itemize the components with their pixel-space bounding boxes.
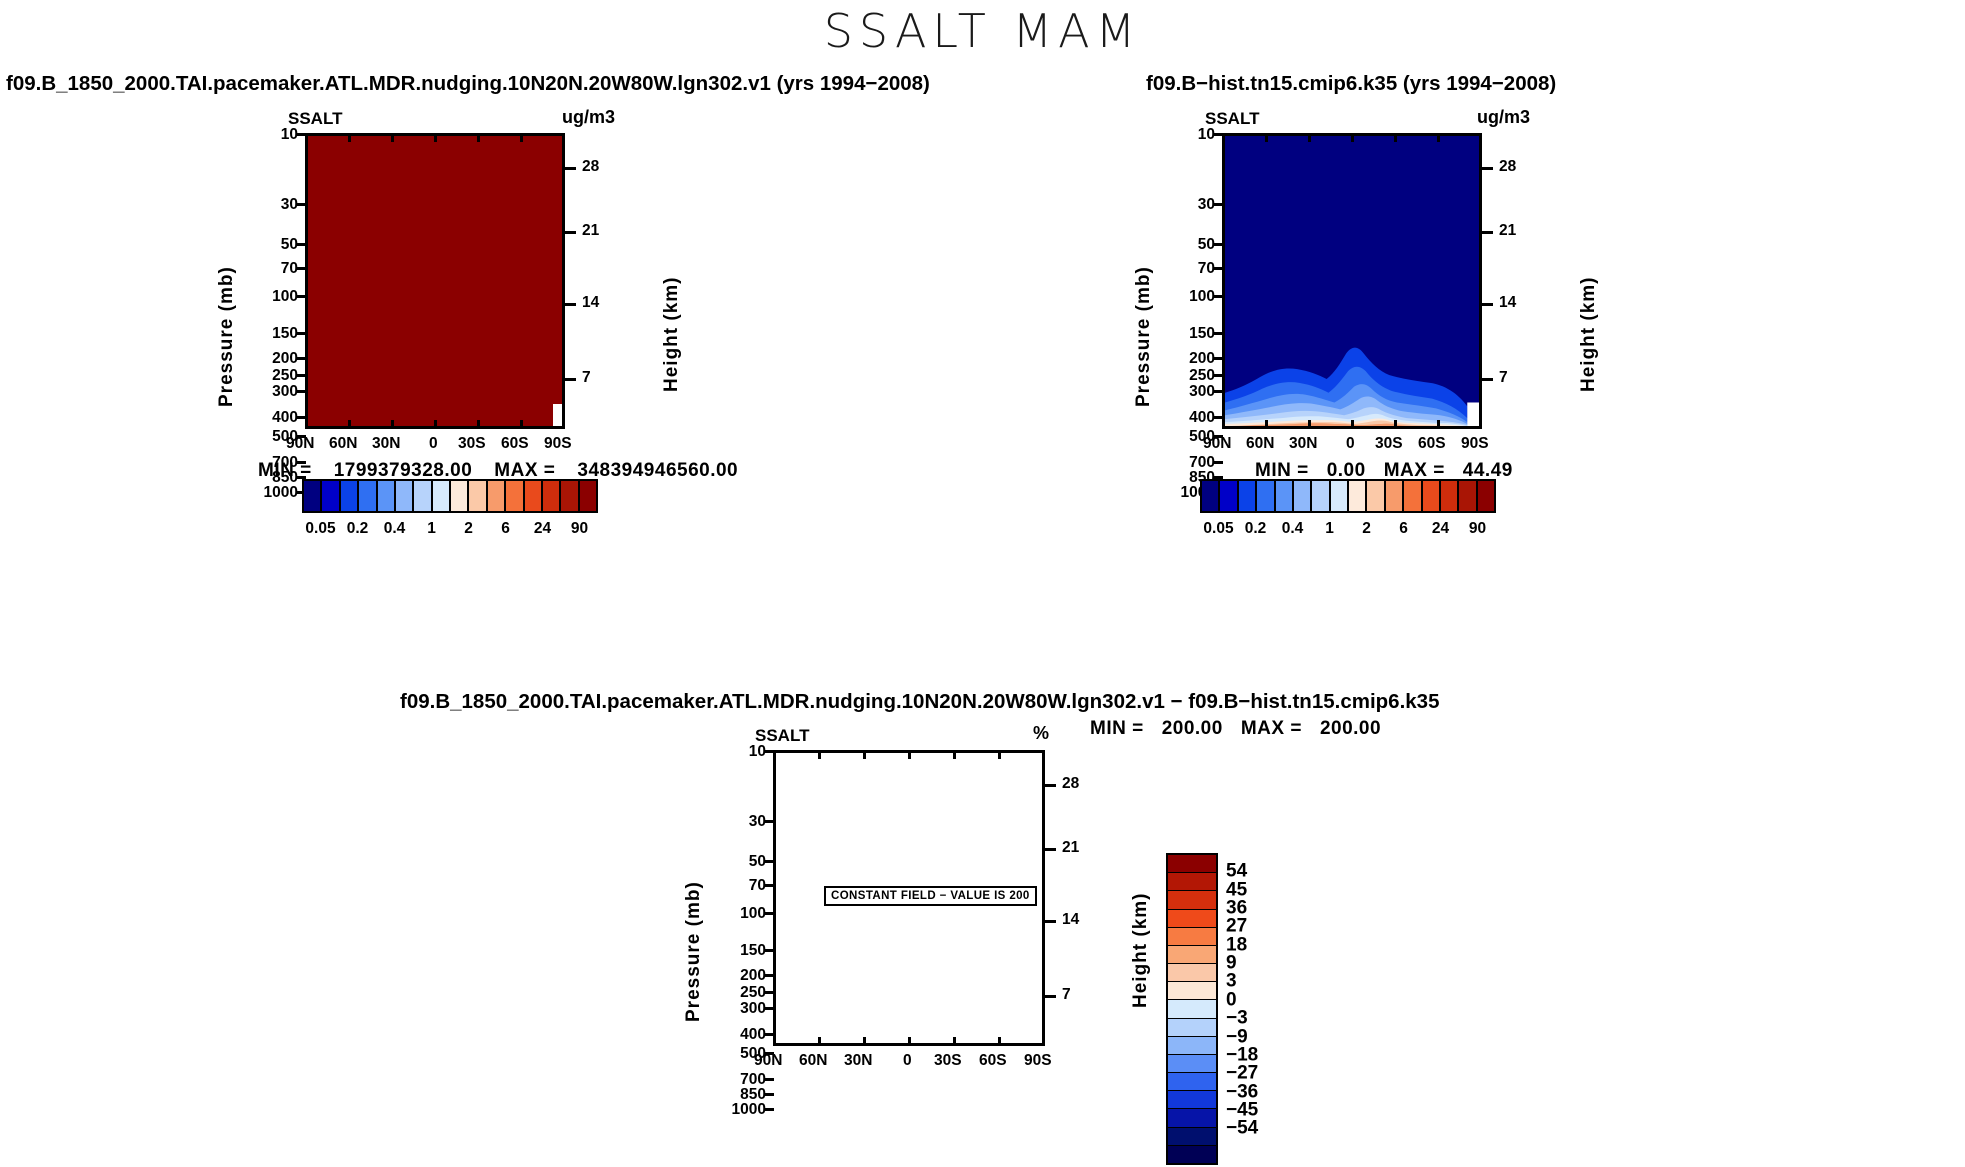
panel-left-ytick-labels: 10 30 50 70 100 150 200 250 300 400 500 … — [240, 122, 302, 442]
colorbar-tick-label: −18 — [1226, 1045, 1258, 1064]
panel-right-units: ug/m3 — [1477, 107, 1530, 128]
colorbar-cell — [1168, 928, 1216, 946]
colorbar-cell — [506, 481, 524, 511]
colorbar-tick-label: 0.4 — [384, 520, 406, 538]
panel-diff-ytick-labels: 10 30 50 70 100 150 200 250 300 400 500 … — [708, 739, 770, 1059]
y2tick-label: 7 — [1062, 986, 1071, 1004]
colorbar-tick-label: 24 — [1432, 520, 1449, 538]
panel-right-title: f09.B−hist.tn15.cmip6.k35 (yrs 1994−2008… — [1146, 72, 1556, 96]
panel-diff-min-value: 200.00 — [1162, 718, 1223, 740]
colorbar-tick-label: 0.05 — [305, 520, 335, 538]
colorbar-tick-label: 9 — [1226, 954, 1237, 973]
panel-left-colorbar-labels: 0.050.20.41262490 — [302, 520, 598, 542]
panel-left-max-value: 348394946560.00 — [577, 460, 738, 482]
panel-left-plot-area[interactable] — [305, 133, 565, 429]
ytick-label: 1000 — [732, 1101, 766, 1119]
colorbar-tick-label: 54 — [1226, 862, 1247, 881]
panel-diff-ytick-marks — [764, 750, 774, 1046]
colorbar-cell — [1294, 481, 1312, 511]
colorbar-tick-label: 0.4 — [1282, 520, 1304, 538]
panel-right-top-ticks — [1222, 133, 1482, 142]
panel-right-ytick-labels: 10 30 50 70 100 150 200 250 300 400 500 … — [1157, 122, 1219, 442]
colorbar-tick-label: −27 — [1226, 1064, 1258, 1083]
colorbar-tick-label: 18 — [1226, 935, 1247, 954]
panel-diff-xtick-marks — [773, 1037, 1045, 1046]
colorbar-cell — [1168, 1019, 1216, 1037]
colorbar-cell — [1459, 481, 1477, 511]
y2tick-label: 14 — [1062, 911, 1079, 929]
panel-right-y2tick-marks — [1482, 133, 1493, 429]
xtick-label: 30S — [458, 435, 486, 453]
colorbar-tick-label: −45 — [1226, 1100, 1258, 1119]
xtick-label: 60S — [979, 1052, 1007, 1070]
panel-diff-xtick-labels: 90N 60N 30N 0 30S 60S 90S — [773, 1052, 1045, 1074]
colorbar-cell — [1168, 1055, 1216, 1073]
colorbar-cell — [1276, 481, 1294, 511]
panel-right-xtick-labels: 90N 60N 30N 0 30S 60S 90S — [1222, 435, 1482, 457]
colorbar-tick-label: 45 — [1226, 880, 1247, 899]
y2tick-label: 21 — [1499, 222, 1516, 240]
panel-left-units: ug/m3 — [562, 107, 615, 128]
colorbar-cell — [469, 481, 487, 511]
colorbar-cell — [1168, 1146, 1216, 1163]
ytick-label: 300 — [740, 1000, 766, 1018]
colorbar-cell — [1386, 481, 1404, 511]
colorbar-tick-label: 2 — [1362, 520, 1371, 538]
xtick-label: 30N — [372, 435, 400, 453]
colorbar-tick-label: 90 — [1469, 520, 1486, 538]
colorbar-cell — [1349, 481, 1367, 511]
y2tick-label: 7 — [1499, 369, 1508, 387]
y2tick-label: 14 — [582, 294, 599, 312]
ytick-label: 100 — [740, 905, 766, 923]
panel-diff-y2label: Height (km) — [1130, 893, 1152, 1009]
ytick-label: 200 — [272, 350, 298, 368]
panel-right-ytick-marks — [1213, 133, 1223, 429]
panel-diff: f09.B_1850_2000.TAI.pacemaker.ATL.MDR.nu… — [380, 690, 1680, 1160]
ytick-label: 200 — [1189, 350, 1215, 368]
panel-left-title: f09.B_1850_2000.TAI.pacemaker.ATL.MDR.nu… — [6, 72, 930, 96]
xtick-label: 60N — [1246, 435, 1274, 453]
y2tick-label: 28 — [582, 158, 599, 176]
panel-diff-units: % — [1033, 723, 1049, 744]
ytick-label: 400 — [1189, 409, 1215, 427]
colorbar-tick-label: 0 — [1226, 990, 1237, 1009]
colorbar-cell — [1168, 873, 1216, 891]
colorbar-cell — [561, 481, 579, 511]
colorbar-tick-label: 1 — [427, 520, 436, 538]
colorbar-cell — [359, 481, 377, 511]
xtick-label: 90S — [544, 435, 572, 453]
colorbar-tick-label: −36 — [1226, 1082, 1258, 1101]
xtick-label: 60N — [799, 1052, 827, 1070]
xtick-label: 0 — [429, 435, 438, 453]
xtick-label: 30N — [1289, 435, 1317, 453]
colorbar-cell — [1168, 1037, 1216, 1055]
panel-diff-title: f09.B_1850_2000.TAI.pacemaker.ATL.MDR.nu… — [400, 690, 1439, 714]
ytick-label: 100 — [1189, 288, 1215, 306]
colorbar-tick-label: 90 — [571, 520, 588, 538]
colorbar-cell — [433, 481, 451, 511]
panel-diff-max-value: 200.00 — [1320, 718, 1381, 740]
panel-diff-y2tick-marks — [1045, 750, 1056, 1046]
colorbar-cell — [341, 481, 359, 511]
colorbar-cell — [1168, 1109, 1216, 1127]
colorbar-tick-label: −9 — [1226, 1027, 1248, 1046]
xtick-label: 90S — [1461, 435, 1489, 453]
panel-diff-ylabel: Pressure (mb) — [683, 881, 705, 1022]
ytick-label: 150 — [1189, 325, 1215, 343]
colorbar-cell — [396, 481, 414, 511]
figure-title: SSALT MAM — [0, 4, 1965, 58]
xtick-label: 0 — [1346, 435, 1355, 453]
y2tick-label: 14 — [1499, 294, 1516, 312]
colorbar-cell — [1202, 481, 1220, 511]
panel-right: f09.B−hist.tn15.cmip6.k35 (yrs 1994−2008… — [1140, 62, 1965, 682]
colorbar-cell — [488, 481, 506, 511]
colorbar-tick-label: 36 — [1226, 899, 1247, 918]
panel-left-ytick-marks — [296, 133, 306, 429]
colorbar-tick-label: 3 — [1226, 972, 1237, 991]
colorbar-cell — [304, 481, 322, 511]
y2tick-label: 21 — [1062, 839, 1079, 857]
panel-left-y2tick-marks — [565, 133, 576, 429]
panel-left-y2tick-labels: 28 21 14 7 — [582, 133, 632, 429]
colorbar-cell — [1257, 481, 1275, 511]
colorbar-tick-label: 0.2 — [1245, 520, 1267, 538]
panel-diff-max-label: MAX = — [1241, 718, 1302, 740]
colorbar-cell — [1478, 481, 1494, 511]
colorbar-cell — [1168, 946, 1216, 964]
panel-left-xtick-labels: 90N 60N 30N 0 30S 60S 90S — [305, 435, 565, 457]
colorbar-cell — [580, 481, 596, 511]
ytick-label: 1000 — [264, 484, 298, 502]
colorbar-cell — [1168, 1000, 1216, 1018]
ytick-label: 400 — [740, 1026, 766, 1044]
colorbar-cell — [543, 481, 561, 511]
colorbar-cell — [1168, 855, 1216, 873]
y2tick-label: 21 — [582, 222, 599, 240]
colorbar-cell — [525, 481, 543, 511]
colorbar-cell — [1404, 481, 1422, 511]
y2tick-label: 7 — [582, 369, 591, 387]
xtick-label: 90N — [1203, 435, 1231, 453]
panel-diff-minmax: MIN = 200.00 MAX = 200.00 — [1090, 718, 1381, 740]
colorbar-cell — [1423, 481, 1441, 511]
xtick-label: 0 — [903, 1052, 912, 1070]
colorbar-cell — [1168, 964, 1216, 982]
colorbar-cell — [1367, 481, 1385, 511]
xtick-label: 90S — [1024, 1052, 1052, 1070]
colorbar-cell — [1168, 891, 1216, 909]
colorbar-cell — [1220, 481, 1238, 511]
panel-left-colorbar[interactable] — [302, 479, 598, 513]
xtick-label: 30S — [1375, 435, 1403, 453]
panel-right-colorbar[interactable] — [1200, 479, 1496, 513]
panel-left-top-ticks — [305, 133, 565, 142]
panel-left-xtick-marks — [305, 420, 565, 429]
ytick-label: 100 — [272, 288, 298, 306]
panel-diff-y2tick-labels: 28 21 14 7 — [1062, 750, 1112, 1046]
panel-right-plot-area[interactable] — [1222, 133, 1482, 429]
colorbar-cell — [378, 481, 396, 511]
colorbar-cell — [1168, 1091, 1216, 1109]
colorbar-cell — [1168, 1128, 1216, 1146]
ytick-label: 150 — [740, 942, 766, 960]
colorbar-cell — [1239, 481, 1257, 511]
xtick-label: 90N — [754, 1052, 782, 1070]
colorbar-cell — [1168, 910, 1216, 928]
colorbar-tick-label: −3 — [1226, 1009, 1248, 1028]
constant-field-note: CONSTANT FIELD − VALUE IS 200 — [824, 886, 1037, 906]
panel-diff-top-ticks — [773, 750, 1045, 759]
colorbar-cell — [1168, 1073, 1216, 1091]
colorbar-cell — [1441, 481, 1459, 511]
colorbar-tick-label: 0.2 — [347, 520, 369, 538]
colorbar-tick-label: 2 — [464, 520, 473, 538]
colorbar-tick-label: 0.05 — [1203, 520, 1233, 538]
y2tick-label: 28 — [1499, 158, 1516, 176]
xtick-label: 30N — [844, 1052, 872, 1070]
xtick-label: 60S — [1418, 435, 1446, 453]
ytick-label: 400 — [272, 409, 298, 427]
panel-diff-min-label: MIN = — [1090, 718, 1144, 740]
colorbar-cell — [1168, 982, 1216, 1000]
panel-left-ylabel: Pressure (mb) — [216, 266, 238, 407]
panel-right-xtick-marks — [1222, 420, 1482, 429]
panel-right-colorbar-labels: 0.050.20.41262490 — [1200, 520, 1496, 542]
colorbar-cell — [1312, 481, 1330, 511]
colorbar-tick-label: 1 — [1325, 520, 1334, 538]
ytick-label: 150 — [272, 325, 298, 343]
colorbar-tick-label: 27 — [1226, 917, 1247, 936]
panel-diff-colorbar-labels: 5445362718930−3−9−18−27−36−45−54 — [1226, 853, 1296, 1165]
colorbar-cell — [1331, 481, 1349, 511]
panel-diff-colorbar[interactable] — [1166, 853, 1218, 1165]
ytick-label: 300 — [1189, 383, 1215, 401]
colorbar-cell — [322, 481, 340, 511]
colorbar-tick-label: 6 — [1399, 520, 1408, 538]
colorbar-cell — [414, 481, 432, 511]
xtick-label: 60N — [329, 435, 357, 453]
colorbar-cell — [451, 481, 469, 511]
panel-right-y2tick-labels: 28 21 14 7 — [1499, 133, 1549, 429]
colorbar-tick-label: 24 — [534, 520, 551, 538]
panel-left: f09.B_1850_2000.TAI.pacemaker.ATL.MDR.nu… — [0, 62, 980, 682]
xtick-label: 30S — [934, 1052, 962, 1070]
ytick-label: 300 — [272, 383, 298, 401]
xtick-label: 90N — [286, 435, 314, 453]
ytick-label: 200 — [740, 967, 766, 985]
colorbar-tick-label: −54 — [1226, 1119, 1258, 1138]
y2tick-label: 28 — [1062, 775, 1079, 793]
xtick-label: 60S — [501, 435, 529, 453]
panel-right-ylabel: Pressure (mb) — [1133, 266, 1155, 407]
panel-left-y2label: Height (km) — [661, 277, 683, 393]
colorbar-tick-label: 6 — [501, 520, 510, 538]
panel-right-y2label: Height (km) — [1578, 277, 1600, 393]
